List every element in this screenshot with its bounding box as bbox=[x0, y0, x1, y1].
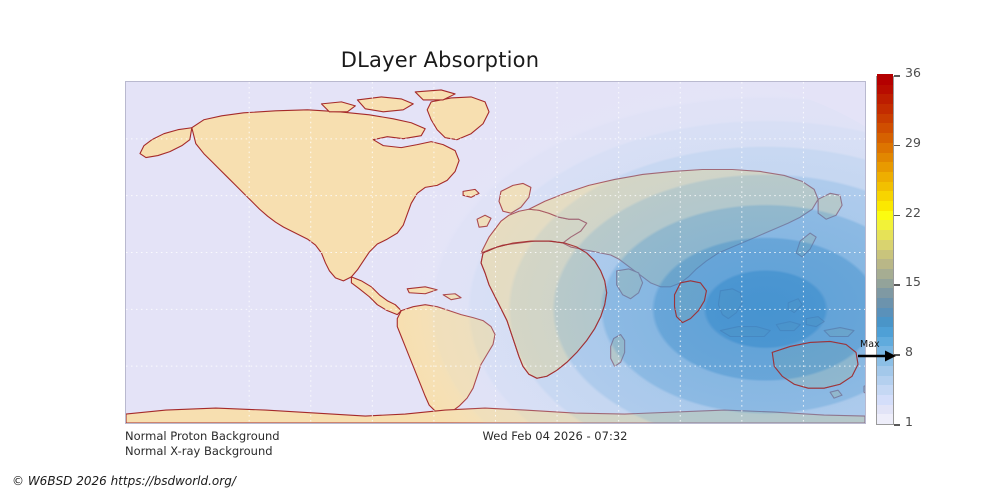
colorbar-segment bbox=[877, 249, 893, 259]
colorbar-segment bbox=[877, 259, 893, 269]
colorbar-segment bbox=[877, 220, 893, 230]
colorbar-segment bbox=[877, 200, 893, 210]
colorbar-segment bbox=[877, 191, 893, 201]
world-map-svg bbox=[126, 82, 865, 423]
colorbar-segment bbox=[877, 94, 893, 104]
colorbar-segment bbox=[877, 307, 893, 317]
colorbar-segment bbox=[877, 365, 893, 375]
map-plot-area[interactable] bbox=[125, 81, 866, 424]
colorbar-segment bbox=[877, 278, 893, 288]
figure-root: DLayer Absorption bbox=[0, 0, 1000, 500]
colorbar-tick-mark bbox=[894, 284, 900, 286]
colorbar-segment bbox=[877, 113, 893, 123]
timestamp: Wed Feb 04 2026 - 07:32 bbox=[0, 429, 1000, 443]
colorbar-segment bbox=[877, 414, 893, 424]
page-title: DLayer Absorption bbox=[0, 48, 880, 72]
colorbar-segment bbox=[877, 326, 893, 336]
colorbar-strip bbox=[876, 76, 894, 425]
colorbar-segment bbox=[877, 84, 893, 94]
copyright-notice: © W6BSD 2026 https://bsdworld.org/ bbox=[12, 474, 236, 488]
colorbar bbox=[876, 76, 894, 425]
colorbar-tick-mark bbox=[894, 424, 900, 426]
colorbar-segment bbox=[877, 152, 893, 162]
colorbar-axis-label: Affected Frequency (MHz) bbox=[909, 76, 1000, 425]
colorbar-segment bbox=[877, 297, 893, 307]
colorbar-segment bbox=[877, 385, 893, 395]
arrow-right-icon bbox=[857, 349, 897, 363]
colorbar-segment bbox=[877, 74, 893, 84]
colorbar-tick-mark bbox=[894, 215, 900, 217]
colorbar-segment bbox=[877, 171, 893, 181]
colorbar-segment bbox=[877, 230, 893, 240]
colorbar-segment bbox=[877, 181, 893, 191]
colorbar-segment bbox=[877, 317, 893, 327]
colorbar-segment bbox=[877, 239, 893, 249]
colorbar-segment bbox=[877, 123, 893, 133]
colorbar-segment bbox=[877, 104, 893, 114]
colorbar-segment bbox=[877, 210, 893, 220]
colorbar-segment bbox=[877, 142, 893, 152]
colorbar-tick-mark bbox=[894, 145, 900, 147]
colorbar-segment bbox=[877, 375, 893, 385]
max-marker: Max bbox=[857, 340, 897, 366]
colorbar-tick-mark bbox=[894, 75, 900, 77]
colorbar-segment bbox=[877, 162, 893, 172]
colorbar-segment bbox=[877, 404, 893, 414]
colorbar-segment bbox=[877, 268, 893, 278]
xray-background-note: Normal X-ray Background bbox=[125, 444, 273, 458]
colorbar-segment bbox=[877, 394, 893, 404]
colorbar-segment bbox=[877, 133, 893, 143]
colorbar-segment bbox=[877, 288, 893, 298]
